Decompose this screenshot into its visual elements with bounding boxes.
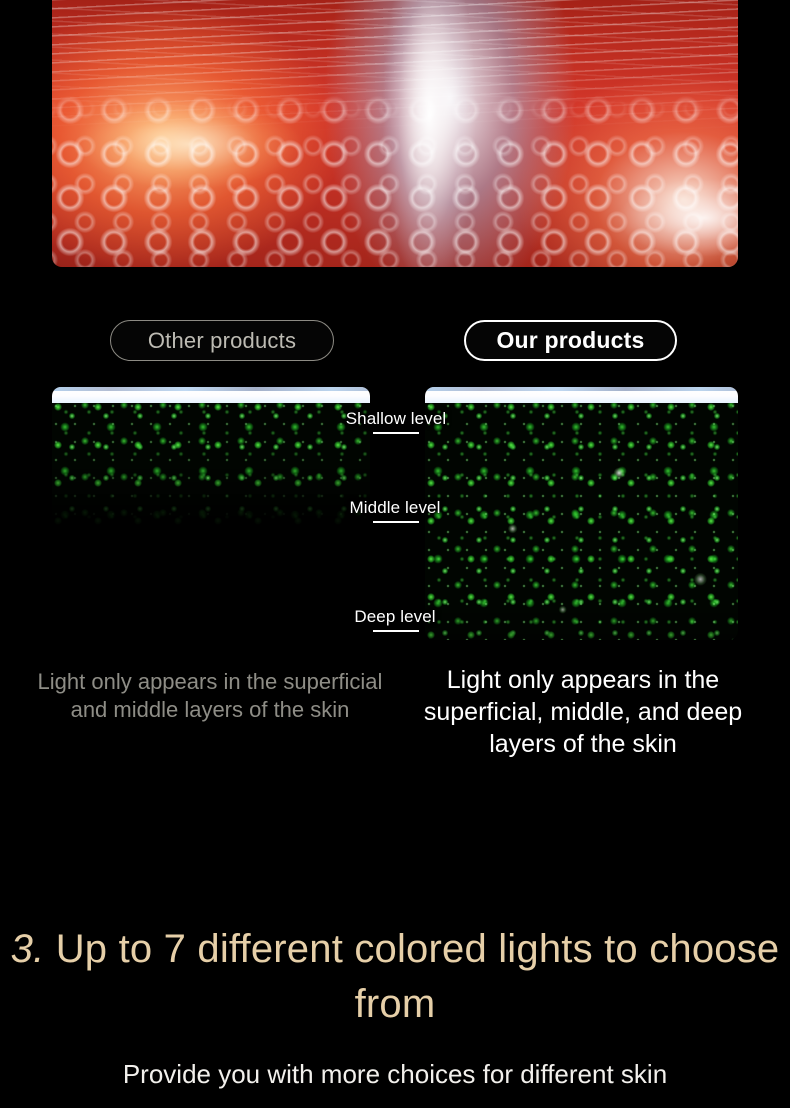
fluorescence-speckle-fine-layer [52,401,370,640]
comparison-button-group: Other products Our products [0,320,790,362]
depth-label-middle: Middle level [295,498,495,518]
skin-surface-edge [425,387,738,391]
other-products-button[interactable]: Other products [110,320,334,361]
hero-image [52,0,738,267]
hero-vignette [52,0,738,267]
depth-rule-shallow [373,432,419,434]
skin-surface-edge [52,387,370,391]
section-subtext: Provide you with more choices for differ… [0,1058,790,1092]
section-heading-text: Up to 7 different colored lights to choo… [56,927,780,1026]
section-heading: 3. Up to 7 different colored lights to c… [0,922,790,1032]
section-number: 3. [11,927,45,971]
our-products-caption: Light only appears in the superficial, m… [388,664,778,760]
depth-label-deep: Deep level [295,607,495,627]
depth-rule-deep [373,630,419,632]
depth-rule-middle [373,521,419,523]
other-products-caption: Light only appears in the superficial an… [34,668,386,724]
our-products-button[interactable]: Our products [464,320,677,361]
depth-label-shallow: Shallow level [296,409,496,429]
